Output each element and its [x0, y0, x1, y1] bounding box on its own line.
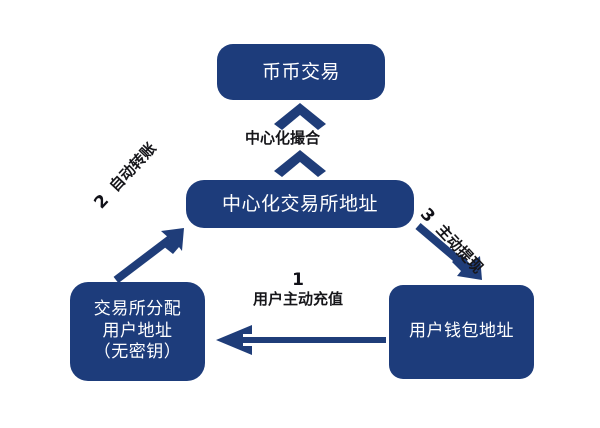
arrow-auto-transfer — [116, 228, 184, 280]
edge-label-auto-transfer-number: 2 — [90, 191, 113, 213]
edge-label-deposit: 1 用户主动充值 — [238, 272, 358, 309]
edge-label-deposit-text: 用户主动充值 — [238, 290, 358, 309]
arrow-deposit — [216, 325, 386, 355]
node-user-wallet[interactable]: 用户钱包地址 — [389, 285, 534, 379]
edge-label-withdraw-text: 主动提现 — [433, 221, 487, 277]
node-exchange-address-label: 中心化交易所地址 — [222, 192, 378, 216]
chevron-up-upper-icon — [274, 103, 326, 130]
node-assigned-address-line-1: 交易所分配 — [94, 299, 182, 321]
node-spot-trading[interactable]: 币币交易 — [217, 44, 385, 100]
edge-label-withdraw: 3 主动提现 — [416, 203, 488, 278]
edge-label-central-matching: 中心化撮合 — [245, 127, 320, 148]
edge-label-deposit-number: 1 — [238, 272, 358, 290]
node-assigned-address-label: 交易所分配 用户地址 （无密钥） — [94, 299, 182, 364]
node-assigned-address[interactable]: 交易所分配 用户地址 （无密钥） — [70, 282, 205, 381]
node-assigned-address-line-3: （无密钥） — [94, 342, 182, 364]
edge-label-auto-transfer-text: 自动转账 — [106, 139, 160, 195]
node-assigned-address-line-2: 用户地址 — [94, 321, 182, 343]
flow-diagram: 币币交易 中心化交易所地址 交易所分配 用户地址 （无密钥） 用户钱包地址 中心… — [0, 0, 600, 428]
node-spot-trading-label: 币币交易 — [262, 60, 340, 84]
edge-label-auto-transfer: 2 自动转账 — [89, 138, 161, 213]
chevron-up-lower-icon — [274, 150, 326, 177]
edge-label-central-matching-text: 中心化撮合 — [245, 129, 320, 147]
node-exchange-address[interactable]: 中心化交易所地址 — [186, 180, 414, 228]
edge-label-withdraw-number: 3 — [416, 204, 439, 226]
node-user-wallet-label: 用户钱包地址 — [409, 321, 514, 343]
